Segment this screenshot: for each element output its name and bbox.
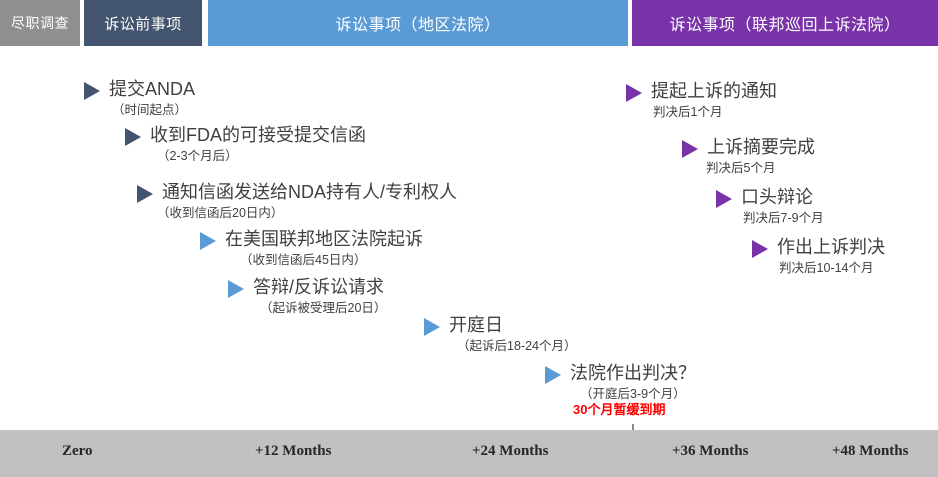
triangle-marker-icon bbox=[545, 366, 561, 384]
milestone-appeal-ruling-title: 作出上诉判决 bbox=[777, 238, 885, 256]
triangle-marker-icon bbox=[228, 280, 244, 298]
triangle-marker-icon bbox=[716, 190, 732, 208]
triangle-marker-icon bbox=[424, 318, 440, 336]
milestone-appeal-ruling: 作出上诉判决 判决后10-14个月 bbox=[752, 240, 885, 275]
milestone-answer-counterclaim-title: 答辩/反诉讼请求 bbox=[253, 278, 384, 296]
milestone-answer-counterclaim: 答辩/反诉讼请求 （起诉被受理后20日） bbox=[228, 280, 386, 315]
milestone-notice-letter: 通知信函发送给NDA持有人/专利权人 （收到信函后20日内） bbox=[137, 185, 457, 220]
milestone-file-suit-title: 在美国联邦地区法院起诉 bbox=[225, 230, 423, 248]
milestone-anda: 提交ANDA （时间起点） bbox=[84, 82, 195, 117]
timeline-tick-12-months: +12 Months bbox=[255, 443, 331, 460]
milestone-appeal-brief-subtitle: 判决后5个月 bbox=[706, 161, 815, 175]
milestone-anda-subtitle: （时间起点） bbox=[112, 103, 195, 117]
milestone-fda-acceptance-letter-head: 收到FDA的可接受提交信函 bbox=[125, 128, 366, 146]
milestone-appeal-brief-title: 上诉摘要完成 bbox=[707, 138, 815, 156]
milestone-anda-title: 提交ANDA bbox=[109, 80, 195, 98]
stay-expiry-note: 30个月暂缓到期 bbox=[573, 402, 696, 417]
milestone-notice-of-appeal: 提起上诉的通知 判决后1个月 bbox=[626, 84, 777, 119]
milestone-notice-of-appeal-subtitle: 判决后1个月 bbox=[653, 105, 777, 119]
milestone-notice-of-appeal-title: 提起上诉的通知 bbox=[651, 82, 777, 100]
milestone-court-decision-title: 法院作出判决？ bbox=[570, 364, 696, 382]
milestone-court-decision: 法院作出判决？ （开庭后3-9个月） 30个月暂缓到期 bbox=[545, 366, 696, 417]
triangle-marker-icon bbox=[125, 128, 141, 146]
triangle-marker-icon bbox=[200, 232, 216, 250]
timeline-tick-24-months: +24 Months bbox=[472, 443, 548, 460]
phase-label-federal-circuit: 诉讼事项（联邦巡回上诉法院） bbox=[669, 11, 900, 35]
milestone-file-suit-subtitle: （收到信函后45日内） bbox=[240, 253, 423, 267]
milestone-oral-argument-subtitle: 判决后7-9个月 bbox=[743, 211, 824, 225]
timeline-tick-zero: Zero bbox=[62, 443, 93, 460]
milestone-answer-counterclaim-head: 答辩/反诉讼请求 bbox=[228, 280, 386, 298]
milestone-notice-letter-head: 通知信函发送给NDA持有人/专利权人 bbox=[137, 185, 457, 203]
milestone-trial-date: 开庭日 （起诉后18-24个月） bbox=[424, 318, 576, 353]
phase-label-pre-litigation: 诉讼前事项 bbox=[104, 13, 182, 34]
milestone-appeal-ruling-head: 作出上诉判决 bbox=[752, 240, 885, 258]
milestone-trial-date-head: 开庭日 bbox=[424, 318, 576, 336]
milestone-fda-acceptance-letter: 收到FDA的可接受提交信函 （2-3个月后） bbox=[125, 128, 366, 163]
triangle-marker-icon bbox=[137, 185, 153, 203]
timeline-tick-48-months: +48 Months bbox=[832, 443, 908, 460]
milestone-trial-date-title: 开庭日 bbox=[449, 316, 503, 334]
milestone-trial-date-subtitle: （起诉后18-24个月） bbox=[457, 339, 576, 353]
milestone-fda-acceptance-letter-subtitle: （2-3个月后） bbox=[157, 149, 366, 163]
milestone-oral-argument-head: 口头辩论 bbox=[716, 190, 824, 208]
milestone-appeal-brief: 上诉摘要完成 判决后5个月 bbox=[682, 140, 815, 175]
triangle-marker-icon bbox=[84, 82, 100, 100]
phase-label-district-court: 诉讼事项（地区法院） bbox=[335, 11, 500, 35]
milestone-oral-argument-title: 口头辩论 bbox=[741, 188, 813, 206]
milestone-file-suit-head: 在美国联邦地区法院起诉 bbox=[200, 232, 423, 250]
milestone-court-decision-head: 法院作出判决？ bbox=[545, 366, 696, 384]
milestone-court-decision-subtitle: （开庭后3-9个月） bbox=[580, 387, 696, 401]
milestone-notice-of-appeal-head: 提起上诉的通知 bbox=[626, 84, 777, 102]
triangle-marker-icon bbox=[752, 240, 768, 258]
triangle-marker-icon bbox=[682, 140, 698, 158]
triangle-marker-icon bbox=[626, 84, 642, 102]
phase-band-due-diligence: 尽职调查 bbox=[0, 0, 80, 46]
milestone-fda-acceptance-letter-title: 收到FDA的可接受提交信函 bbox=[150, 126, 366, 144]
milestone-notice-letter-subtitle: （收到信函后20日内） bbox=[157, 206, 457, 220]
timeline-diagram: 尽职调查 诉讼前事项 诉讼事项（地区法院） 诉讼事项（联邦巡回上诉法院） 提交A… bbox=[0, 0, 938, 477]
milestone-answer-counterclaim-subtitle: （起诉被受理后20日） bbox=[260, 301, 386, 315]
milestone-appeal-ruling-subtitle: 判决后10-14个月 bbox=[779, 261, 885, 275]
phase-label-due-diligence: 尽职调查 bbox=[11, 13, 69, 33]
milestone-anda-head: 提交ANDA bbox=[84, 82, 195, 100]
phase-band-pre-litigation: 诉讼前事项 bbox=[84, 0, 202, 46]
milestone-oral-argument: 口头辩论 判决后7-9个月 bbox=[716, 190, 824, 225]
milestone-file-suit: 在美国联邦地区法院起诉 （收到信函后45日内） bbox=[200, 232, 423, 267]
timeline-tick-36-months: +36 Months bbox=[672, 443, 748, 460]
milestone-appeal-brief-head: 上诉摘要完成 bbox=[682, 140, 815, 158]
phase-band-federal-circuit: 诉讼事项（联邦巡回上诉法院） bbox=[632, 0, 938, 46]
milestone-notice-letter-title: 通知信函发送给NDA持有人/专利权人 bbox=[162, 183, 457, 201]
phase-band-district-court: 诉讼事项（地区法院） bbox=[208, 0, 628, 46]
timeline-axis-bar: Zero +12 Months +24 Months +36 Months +4… bbox=[0, 430, 938, 477]
